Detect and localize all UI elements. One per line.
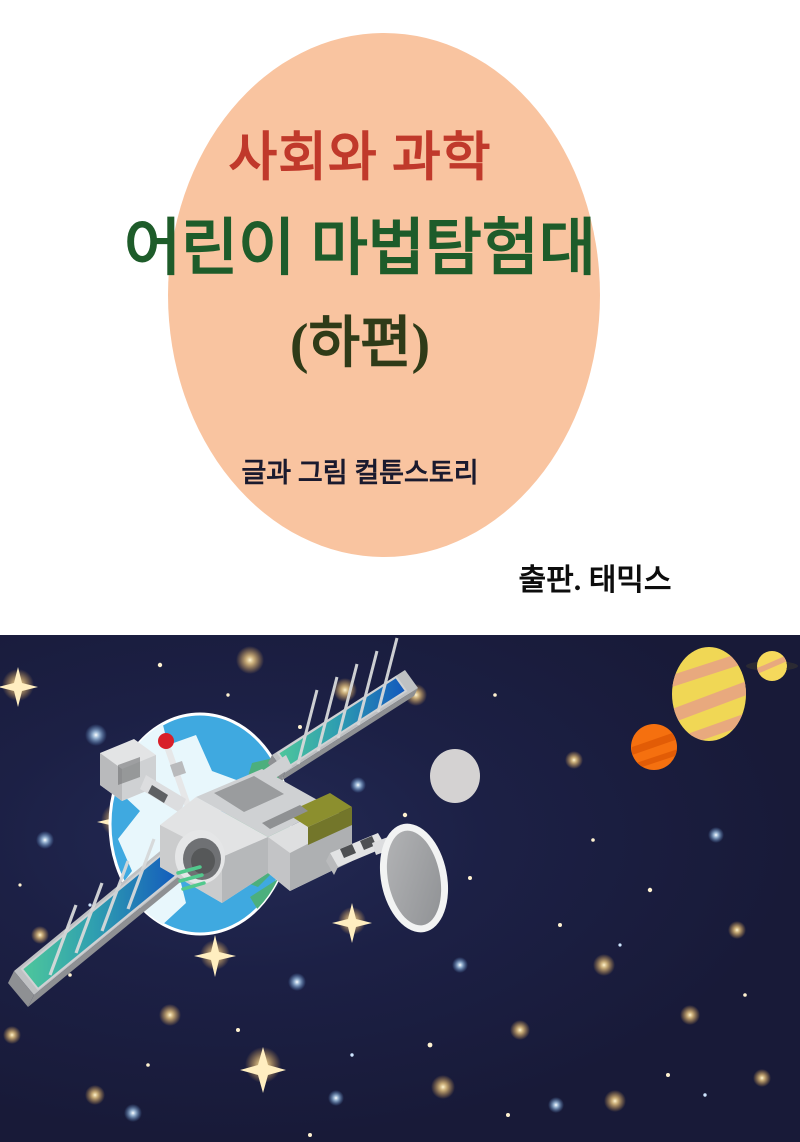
space-scene-svg bbox=[0, 635, 800, 1142]
publisher-label: 출판. 태믹스 bbox=[430, 566, 760, 596]
satellite bbox=[8, 638, 457, 1007]
page-title: 어린이 마법탐험대 bbox=[60, 218, 660, 280]
byline: 글과 그림 컬툰스토리 bbox=[100, 460, 620, 487]
dish-antenna bbox=[371, 818, 457, 939]
volume-label: (하편) bbox=[100, 316, 620, 372]
book-cover: 사회와 과학 어린이 마법탐험대 (하편) 글과 그림 컬툰스토리 출판. 태믹… bbox=[0, 0, 800, 1142]
space-illustration bbox=[0, 635, 800, 1142]
mars-planet bbox=[631, 724, 678, 770]
title-panel: 사회와 과학 어린이 마법탐험대 (하편) 글과 그림 컬툰스토리 출판. 태믹… bbox=[0, 0, 800, 635]
title-text-block: 사회와 과학 어린이 마법탐험대 (하편) 글과 그림 컬툰스토리 출판. 태믹… bbox=[0, 0, 800, 635]
saturn-planet bbox=[746, 651, 798, 681]
series-label: 사회와 과학 bbox=[100, 132, 620, 185]
moon bbox=[430, 749, 480, 803]
solar-panel-upper bbox=[268, 638, 418, 781]
jupiter-planet bbox=[672, 647, 752, 749]
